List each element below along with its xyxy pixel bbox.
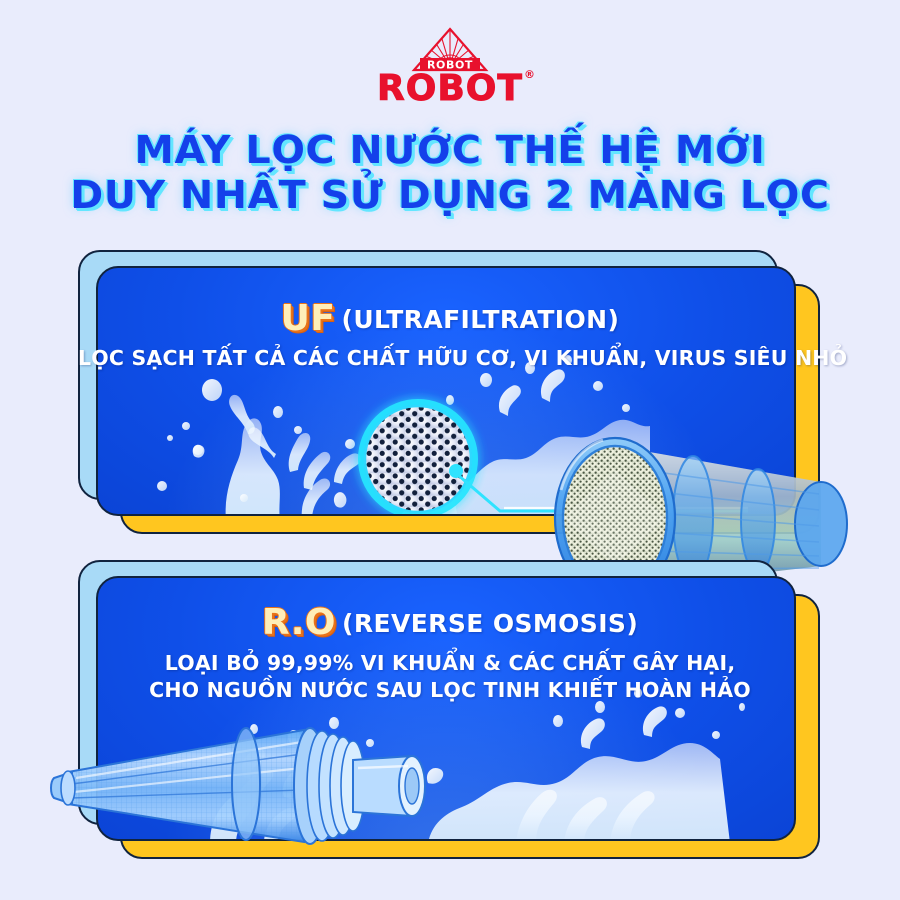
card-ro-description: LOẠI BỎ 99,99% VI KHUẨN & CÁC CHẤT GÂY H…	[78, 650, 822, 704]
card-ro[interactable]: R.O(REVERSE OSMOSIS) LOẠI BỎ 99,99% VI K…	[78, 560, 822, 860]
page-title: MÁY LỌC NƯỚC THẾ HỆ MỚI DUY NHẤT SỬ DỤNG…	[0, 128, 900, 218]
card-uf-title: UF(ULTRAFILTRATION)	[78, 298, 822, 339]
registered-mark-icon: ®	[524, 69, 536, 80]
brand-wordmark: ROBOT ®	[377, 71, 523, 107]
brand-logo: ROBOT ROBOT ®	[0, 28, 900, 114]
page-title-line-2: DUY NHẤT SỬ DỤNG 2 MÀNG LỌC	[0, 173, 900, 218]
card-uf-description-line-1: LỌC SẠCH TẤT CẢ CÁC CHẤT HỮU CƠ, VI KHUẨ…	[78, 345, 822, 372]
brand-wordmark-text: ROBOT	[377, 68, 523, 109]
poster-root: ROBOT ROBOT ® MÁY LỌC NƯỚC THẾ HỆ MỚI DU…	[0, 0, 900, 900]
page-title-line-1: MÁY LỌC NƯỚC THẾ HỆ MỚI	[135, 128, 766, 172]
card-ro-expansion: (REVERSE OSMOSIS)	[342, 609, 638, 638]
callout-connector-line	[448, 463, 778, 516]
card-ro-description-line-2: CHO NGUỒN NƯỚC SAU LỌC TINH KHIẾT HOÀN H…	[78, 677, 822, 704]
card-uf[interactable]: UF(ULTRAFILTRATION) LỌC SẠCH TẤT CẢ CÁC …	[78, 250, 822, 535]
card-ro-description-line-1: LOẠI BỎ 99,99% VI KHUẨN & CÁC CHẤT GÂY H…	[78, 650, 822, 677]
card-ro-title: R.O(REVERSE OSMOSIS)	[78, 602, 822, 643]
card-ro-code: R.O	[262, 602, 336, 643]
card-uf-code: UF	[281, 298, 336, 339]
card-uf-description: LỌC SẠCH TẤT CẢ CÁC CHẤT HỮU CƠ, VI KHUẨ…	[78, 345, 822, 372]
membrane-magnifier-circle	[353, 394, 483, 516]
card-uf-expansion: (ULTRAFILTRATION)	[342, 305, 620, 334]
